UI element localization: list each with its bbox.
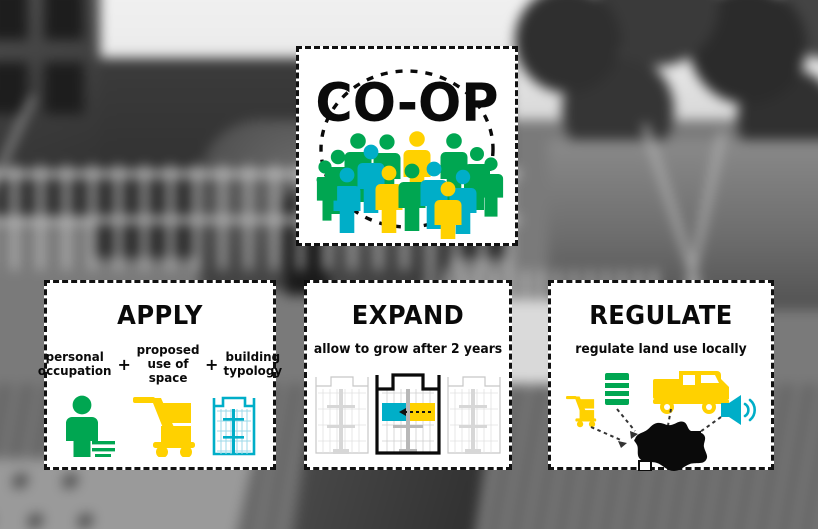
card-title-expand: EXPAND (314, 301, 502, 331)
apply-formula: personal occupation + proposed use of sp… (47, 343, 273, 385)
formula-term-personal-occupation: personal occupation (38, 350, 112, 378)
hand-truck-cart-icon (566, 396, 596, 427)
building-floorplan-icon (211, 395, 257, 457)
card-title-regulate: REGULATE (559, 301, 764, 331)
hand-truck-cart-icon (131, 395, 197, 457)
person-icon (63, 395, 117, 457)
formula-term-building-typology: building typology (224, 350, 283, 378)
co-op-wordmark: CO-OP (315, 73, 498, 134)
garbage-truck-icon (653, 371, 729, 414)
card-apply[interactable]: APPLY personal occupation + proposed use… (44, 280, 276, 470)
regulate-illustration (561, 365, 761, 471)
card-expand[interactable]: EXPAND allow to grow after 2 years (304, 280, 512, 470)
formula-term-proposed-use-of-space: proposed use of space (136, 343, 199, 385)
card-subtitle-expand: allow to grow after 2 years (312, 342, 504, 357)
card-subtitle-regulate: regulate land use locally (557, 342, 766, 357)
building-section-expansion-icon (313, 369, 503, 459)
card-regulate[interactable]: REGULATE regulate land use locally (548, 280, 774, 470)
oil-barrel-icon (605, 373, 629, 405)
concept-board: CO-OP (0, 0, 818, 529)
land-parcel-blob-icon (634, 421, 707, 471)
plus-icon-1: + (117, 355, 130, 374)
card-title-apply: APPLY (55, 301, 265, 331)
plus-icon-2: + (205, 355, 218, 374)
card-co-op[interactable]: CO-OP (296, 46, 518, 246)
crowd-of-people-icon (317, 131, 504, 239)
co-op-illustration: CO-OP (301, 49, 513, 239)
apply-icon-row (47, 395, 273, 457)
